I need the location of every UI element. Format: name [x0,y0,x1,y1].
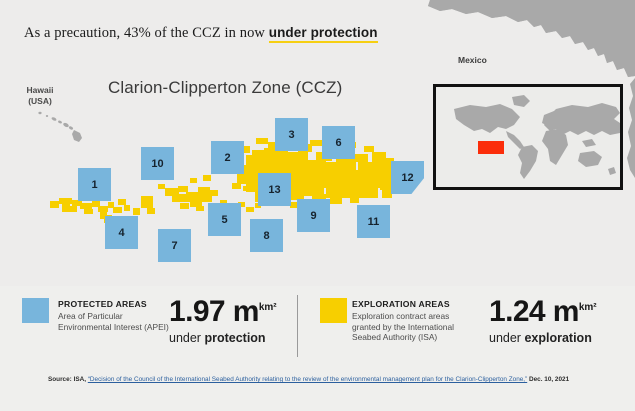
ccz-location-marker [478,141,504,154]
world-locator-inset [433,84,623,190]
headline: As a precaution, 43% of the CCZ in now u… [24,25,378,42]
apei-box-3: 3 [275,118,308,151]
exploration-value: 1.24 mkm² [489,295,597,329]
headline-strong: under protection [269,25,378,43]
apei-box-label: 4 [118,227,124,239]
apei-box-label: 10 [151,158,163,170]
protected-caption: under protection [169,331,266,345]
apei-box-label: 6 [335,137,341,149]
apei-box-label: 11 [368,216,380,228]
exploration-caption-strong: exploration [524,331,591,345]
mexico-label: Mexico [458,55,487,65]
protected-caption-prefix: under [169,331,204,345]
exploration-value-number: 1.24 m [489,295,579,328]
source-note: Source: ISA, “Decision of the Council of… [48,376,569,383]
source-link[interactable]: “Decision of the Council of the Internat… [88,376,527,383]
hawaii-label: Hawaii (USA) [18,85,62,107]
legend-swatch-protected [22,298,49,323]
legend: PROTECTED AREAS Area of Particular Envir… [0,286,635,370]
protected-caption-strong: protection [204,331,265,345]
source-lead: Source: ISA, [48,376,88,383]
apei-box-label: 1 [91,179,97,191]
protected-value-number: 1.97 m [169,295,259,328]
apei-box-4: 4 [105,216,138,249]
world-map-svg [436,87,620,187]
source-date: Dec. 10, 2021 [527,376,569,383]
exploration-caption-prefix: under [489,331,524,345]
hawaii-label-line2: (USA) [18,96,62,107]
apei-box-7: 7 [158,229,191,262]
apei-box-13: 13 [258,173,291,206]
apei-box-6: 6 [322,126,355,159]
protected-value: 1.97 mkm² [169,295,277,329]
legend-desc-protected: Area of Particular Environmental Interes… [58,311,178,332]
map-canvas: As a precaution, 43% of the CCZ in now u… [0,0,635,286]
exploration-unit: km² [579,302,597,313]
apei-box-label: 3 [288,129,294,141]
apei-box-label: 13 [268,184,280,196]
apei-box-1: 1 [78,168,111,201]
apei-box-11: 11 [357,205,390,238]
hawaii-label-line1: Hawaii [18,85,62,96]
protected-unit: km² [259,302,277,313]
legend-title-exploration: EXPLORATION AREAS [352,299,450,309]
legend-desc-exploration: Exploration contract areas granted by th… [352,311,480,343]
exploration-caption: under exploration [489,331,592,345]
apei-box-5: 5 [208,203,241,236]
headline-plain: As a precaution, 43% of the CCZ in now [24,25,269,41]
apei-box-label: 7 [171,240,177,252]
legend-divider [297,295,298,357]
infographic-root: As a precaution, 43% of the CCZ in now u… [0,0,635,411]
legend-swatch-exploration [320,298,347,323]
apei-box-label: 9 [310,210,316,222]
map-title: Clarion-Clipperton Zone (CCZ) [108,78,342,98]
apei-box-8: 8 [250,219,283,252]
legend-title-protected: PROTECTED AREAS [58,299,147,309]
apei-box-2: 2 [211,141,244,174]
apei-box-label: 12 [401,172,413,184]
apei-box-label: 2 [224,152,230,164]
apei-box-label: 5 [221,214,227,226]
apei-box-9: 9 [297,199,330,232]
apei-box-10: 10 [141,147,174,180]
apei-box-label: 8 [263,230,269,242]
